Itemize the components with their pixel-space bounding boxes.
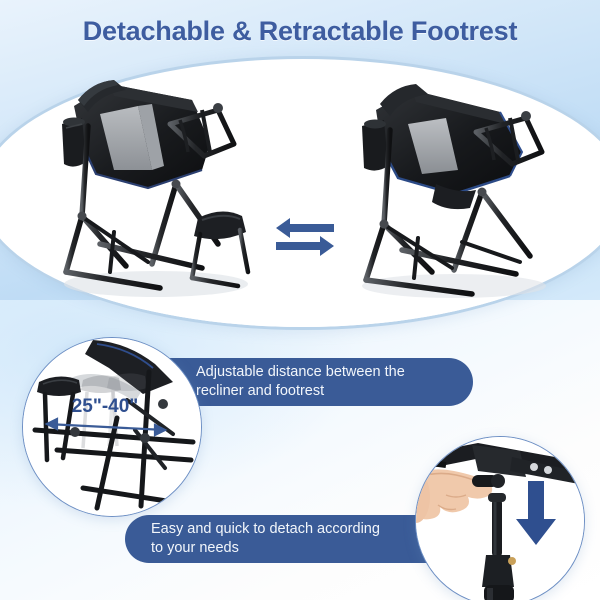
feature-callout-easy-detach: Easy and quick to detach according to yo… <box>125 515 450 563</box>
page-title: Detachable & Retractable Footrest <box>0 16 600 47</box>
footrest-distance-range-photo: 25"-40" <box>23 338 201 516</box>
exchange-arrows-icon <box>272 214 338 260</box>
inset-hand-detaching-pin <box>415 436 585 600</box>
feature-1-line-1: Adjustable distance between the <box>196 363 405 382</box>
feature-2-line-2: to your needs <box>151 539 380 558</box>
chair-with-footrest-retracted <box>350 66 555 306</box>
inset-footrest-distance-range: 25"-40" <box>22 337 202 517</box>
hero-content <box>0 56 600 324</box>
chair-with-footrest-extended <box>52 66 252 306</box>
measure-label: 25"-40" <box>72 396 139 417</box>
feature-2-line-1: Easy and quick to detach according <box>151 520 380 539</box>
product-infographic: Detachable & Retractable Footrest Adjust… <box>0 0 600 600</box>
hand-detaching-footrest-pin-photo <box>416 437 584 600</box>
feature-1-line-2: recliner and footrest <box>196 382 405 401</box>
